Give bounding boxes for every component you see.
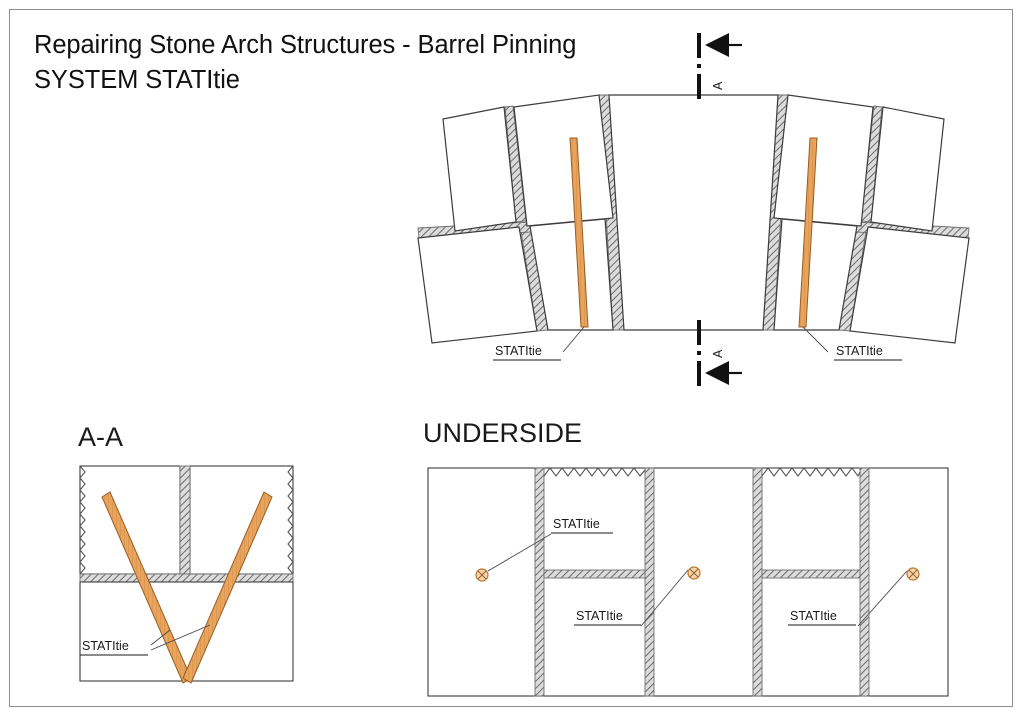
section-letter-top: A <box>711 81 725 90</box>
stone-upper-right-outer <box>871 107 944 231</box>
stone-upper-left-outer <box>443 107 516 231</box>
stone-upper-left-inner <box>514 95 613 226</box>
underside-joint-v3 <box>753 468 762 696</box>
underside-joint-v4 <box>860 468 869 696</box>
stone-lower-right-outer <box>850 227 969 343</box>
drawing-canvas: STATItie STATItie A A <box>0 0 1024 717</box>
section-marker-a-top[interactable]: A <box>699 33 742 99</box>
arch-label-right: STATItie <box>836 344 883 358</box>
stone-keystone <box>609 95 778 330</box>
stone-upper-right-inner <box>774 95 873 226</box>
tie-marker-3 <box>907 568 919 580</box>
section-a-a-view: STATItie <box>80 466 293 683</box>
section-arrow-bottom-icon <box>705 361 729 385</box>
leader-line-arch-right <box>803 327 828 352</box>
section-letter-bottom: A <box>711 349 725 358</box>
aa-stone-lower <box>80 582 293 681</box>
drawing-page: Repairing Stone Arch Structures - Barrel… <box>0 0 1024 717</box>
underside-joint-v2 <box>645 468 654 696</box>
underside-joint-h2 <box>762 570 860 578</box>
arch-voussoirs <box>418 95 969 343</box>
section-arrow-top-icon <box>705 33 729 57</box>
leader-line-arch-left <box>563 327 584 352</box>
underside-outline <box>428 468 948 696</box>
underside-joint-h1 <box>544 570 645 578</box>
stone-lower-left-outer <box>418 227 537 343</box>
underside-label-2: STATItie <box>576 609 623 623</box>
underside-label-1: STATItie <box>553 517 600 531</box>
tie-marker-1 <box>476 569 488 581</box>
aa-joint-bed <box>80 574 293 582</box>
barrel-arch-elevation: STATItie STATItie <box>418 95 969 360</box>
arch-label-left: STATItie <box>495 344 542 358</box>
aa-joint-vertical <box>180 466 190 574</box>
underside-label-3: STATItie <box>790 609 837 623</box>
aa-label: STATItie <box>82 639 129 653</box>
tie-marker-2 <box>688 567 700 579</box>
underside-joint-v1 <box>535 468 544 696</box>
underside-plan-view: STATItie STATItie STATItie <box>428 468 948 696</box>
